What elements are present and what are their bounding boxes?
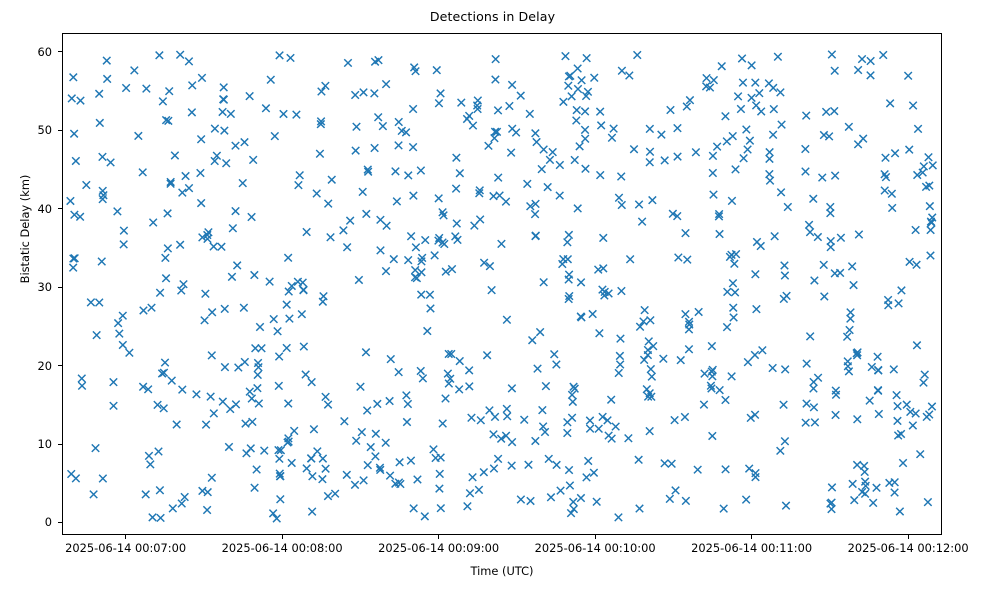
x-tick-mark: [438, 535, 439, 539]
y-tick-mark: [58, 208, 62, 209]
x-tick-mark: [282, 535, 283, 539]
x-tick-label: 2025-06-14 00:10:00: [535, 541, 656, 555]
y-tick-mark: [58, 365, 62, 366]
y-tick-label: 0: [0, 515, 52, 529]
x-tick-label: 2025-06-14 00:07:00: [65, 541, 186, 555]
x-tick-label: 2025-06-14 00:11:00: [691, 541, 812, 555]
y-tick-mark: [58, 522, 62, 523]
x-tick-label: 2025-06-14 00:08:00: [222, 541, 343, 555]
x-axis-label: Time (UTC): [62, 564, 942, 578]
y-tick-mark: [58, 287, 62, 288]
y-tick-label: 10: [0, 437, 52, 451]
y-tick-label: 60: [0, 45, 52, 59]
scatter-marker-group: [63, 34, 941, 534]
y-tick-mark: [58, 51, 62, 52]
matplotlib-figure: Detections in Delay 2025-06-14 00:07:002…: [0, 0, 985, 590]
x-tick-label: 2025-06-14 00:09:00: [378, 541, 499, 555]
x-tick-label: 2025-06-14 00:12:00: [848, 541, 969, 555]
x-tick-mark: [125, 535, 126, 539]
plot-axes-frame: [62, 33, 942, 535]
scatter-series-detections: [63, 34, 941, 534]
y-axis-label: Bistatic Delay (km): [18, 79, 32, 379]
page-title: Detections in Delay: [0, 9, 985, 24]
x-tick-mark: [908, 535, 909, 539]
x-tick-mark: [595, 535, 596, 539]
y-tick-mark: [58, 130, 62, 131]
y-tick-mark: [58, 444, 62, 445]
x-tick-mark: [751, 535, 752, 539]
